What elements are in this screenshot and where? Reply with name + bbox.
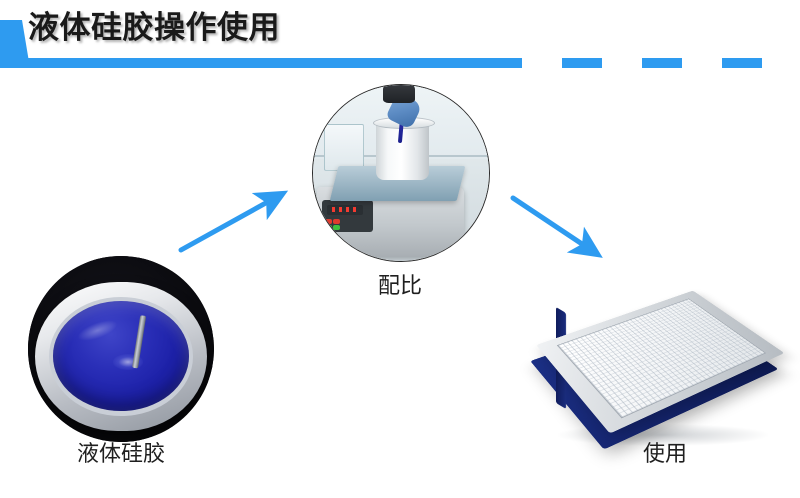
header-divider-rule: [0, 58, 800, 68]
silicone-surface-highlight: [76, 317, 120, 346]
page-title: 液体硅胶操作使用: [28, 5, 280, 51]
silicone-bowl: [35, 282, 206, 431]
silicone-liquid: [53, 301, 190, 411]
scale-button-green-2: [333, 225, 340, 230]
filter-pleated-media: [557, 298, 767, 418]
ratio-background-container: [324, 124, 365, 172]
scale-led-display: [327, 205, 362, 215]
page-header: 液体硅胶操作使用: [0, 0, 800, 72]
ratio-photo-background: [313, 85, 489, 261]
arrow-silicone-to-ratio: [175, 184, 295, 256]
slide-page: 液体硅胶操作使用 液体硅胶: [0, 0, 800, 498]
scale-button-green-1: [325, 225, 332, 230]
divider-dashed-segment: [482, 58, 800, 68]
divider-solid-segment: [0, 58, 482, 68]
photo-hepa-filter: [540, 252, 784, 452]
silicone-stirring-rod: [132, 315, 146, 368]
scale-button-red-1: [325, 219, 332, 224]
scale-control-panel: [322, 200, 372, 232]
caption-liquid-silicone: 液体硅胶: [28, 440, 214, 468]
photo-liquid-silicone: [28, 256, 214, 442]
photo-proportioning: [312, 84, 490, 262]
caption-proportioning: 配比: [310, 272, 490, 300]
process-flow-stage: 液体硅胶: [0, 72, 800, 498]
caption-usage: 使用: [575, 440, 755, 468]
gloved-hand: [383, 84, 415, 103]
scale-button-red-2: [333, 219, 340, 224]
